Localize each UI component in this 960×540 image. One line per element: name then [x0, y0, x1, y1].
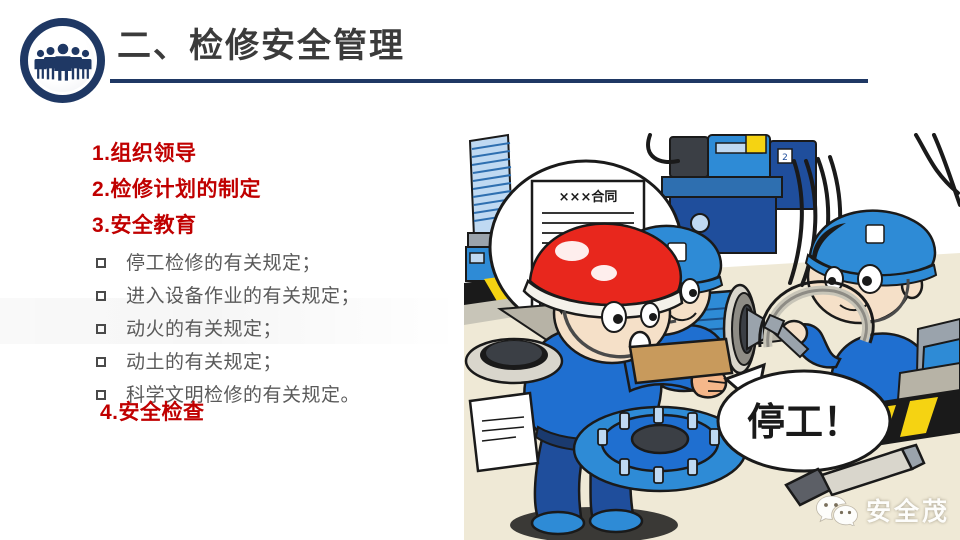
list-item-label: 停工检修的有关规定； [126, 248, 321, 275]
illustration-artwork: 2 [464, 133, 960, 540]
slide-root: 二、检修安全管理 1.组织领导 2.检修计划的制定 3.安全教育 停工检修的有关… [0, 0, 960, 540]
speech-bubble-text: 停工！ [747, 400, 861, 444]
wechat-icon [816, 494, 858, 526]
list-item-label: 动土的有关规定； [126, 347, 282, 374]
list-item: 动土的有关规定； [96, 347, 282, 374]
page-title: 二、检修安全管理 [117, 24, 405, 68]
wechat-watermark: 安全茂 [816, 492, 950, 528]
contract-title: ×××合同 [559, 189, 618, 205]
heading-safety-education: 3.安全教育 [92, 209, 197, 239]
header-divider [110, 79, 868, 83]
heading-safety-inspection: 4.安全检查 [100, 396, 205, 426]
list-item: 进入设备作业的有关规定； [96, 281, 360, 308]
maintenance-safety-illustration: 2 [464, 133, 960, 540]
hollow-square-bullet-icon [96, 291, 106, 301]
list-item: 动火的有关规定； [96, 314, 282, 341]
list-item-label: 动火的有关规定； [126, 314, 282, 341]
content-left-column: 1.组织领导 2.检修计划的制定 3.安全教育 停工检修的有关规定； 进入设备作… [0, 128, 462, 540]
watermark-label: 安全茂 [866, 492, 950, 528]
list-item-label: 进入设备作业的有关规定； [126, 281, 360, 308]
hollow-square-bullet-icon [96, 324, 106, 334]
metal-ring-left [466, 339, 562, 383]
hollow-square-bullet-icon [96, 258, 106, 268]
heading-organization-leadership: 1.组织领导 [92, 137, 197, 167]
hollow-square-bullet-icon [96, 357, 106, 367]
people-group-glyph [34, 41, 92, 81]
people-group-icon [20, 18, 105, 103]
heading-maintenance-plan: 2.检修计划的制定 [92, 173, 261, 203]
slide-header: 二、检修安全管理 [0, 0, 960, 118]
list-item: 停工检修的有关规定； [96, 248, 321, 275]
svg-text:2: 2 [782, 153, 788, 163]
